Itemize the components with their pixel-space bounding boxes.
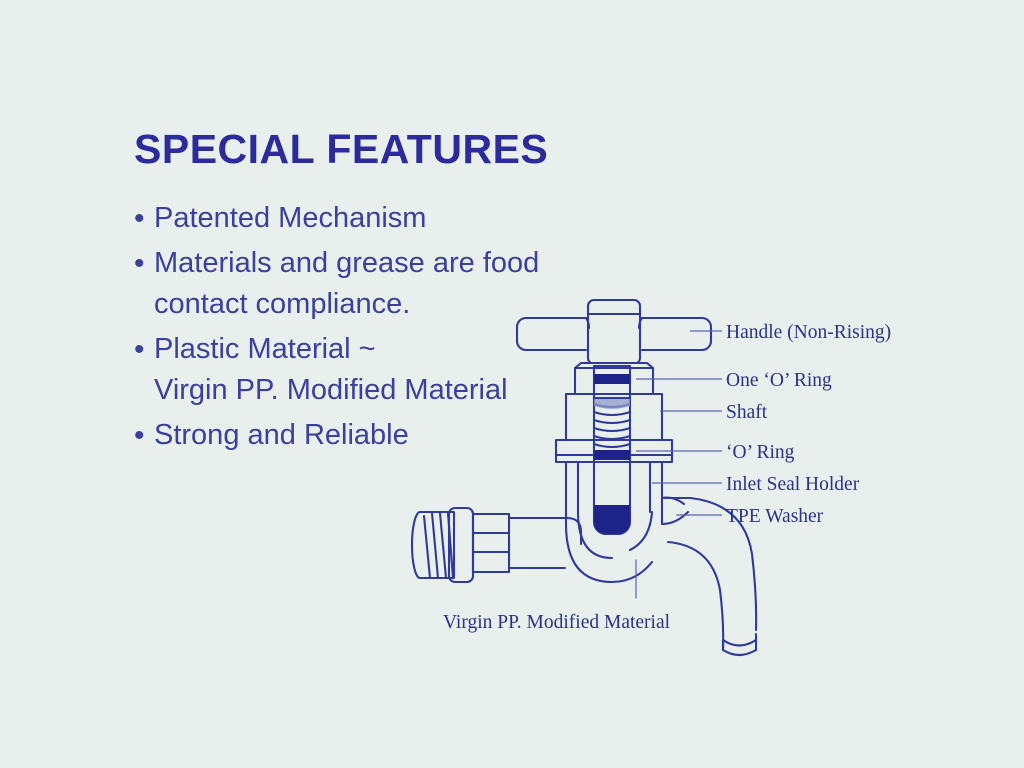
page-title: SPECIAL FEATURES <box>134 126 548 173</box>
feature-text: contact compliance. <box>154 284 654 325</box>
feature-text: Patented Mechanism <box>154 198 654 239</box>
feature-text: Materials and grease are food <box>154 243 654 284</box>
tpe-washer-fill <box>594 505 630 534</box>
callout-o-ring: ‘O’ Ring <box>726 442 794 464</box>
features-list: • Patented Mechanism • Materials and gre… <box>134 198 654 460</box>
feature-text: Strong and Reliable <box>154 415 654 456</box>
list-item: • Strong and Reliable <box>134 415 654 456</box>
inlet-connector <box>412 508 581 582</box>
callout-tpe-washer: TPE Washer <box>726 506 823 528</box>
list-item: • Patented Mechanism <box>134 198 654 239</box>
callout-shaft: Shaft <box>726 402 767 424</box>
feature-text: Virgin PP. Modified Material <box>154 370 654 411</box>
bullet-icon: • <box>134 243 154 284</box>
callout-inlet-seal-holder: Inlet Seal Holder <box>726 474 859 496</box>
bullet-icon: • <box>134 198 154 239</box>
slide-canvas: SPECIAL FEATURES • Patented Mechanism • … <box>0 0 1024 768</box>
list-item: • Materials and grease are food contact … <box>134 243 654 325</box>
callout-handle: Handle (Non-Rising) <box>726 322 891 344</box>
bullet-icon: • <box>134 329 154 370</box>
feature-text: Plastic Material ~ <box>154 329 654 370</box>
list-item: • Plastic Material ~ Virgin PP. Modified… <box>134 329 654 411</box>
caption-virgin-pp-material: Virgin PP. Modified Material <box>443 612 670 634</box>
callout-one-o-ring: One ‘O’ Ring <box>726 370 832 392</box>
bullet-icon: • <box>134 415 154 456</box>
